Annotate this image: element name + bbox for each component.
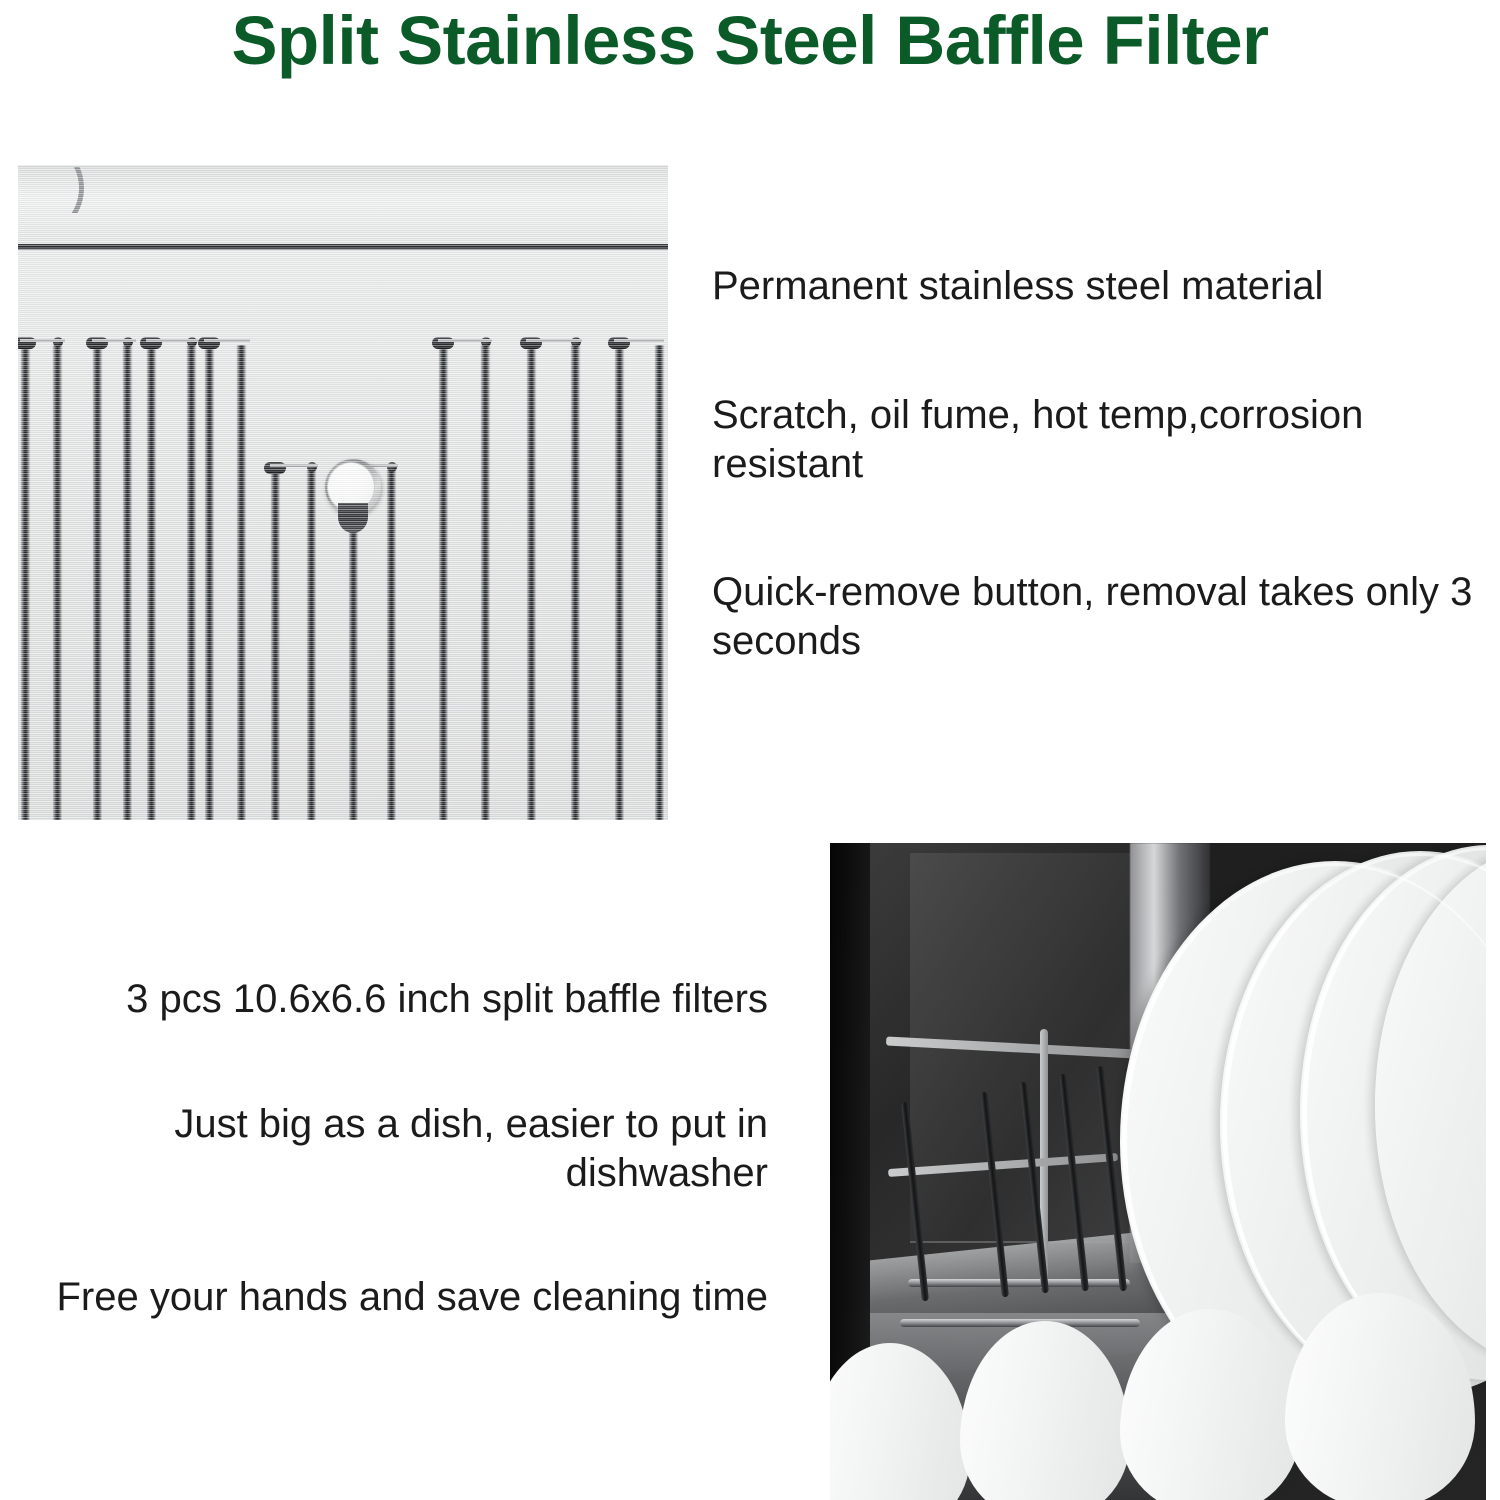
filter-closeup-image: [18, 165, 668, 820]
dishwasher-image: [830, 843, 1486, 1500]
benefit-list: 3 pcs 10.6x6.6 inch split baffle filters…: [20, 975, 768, 1322]
benefit-item-size: 3 pcs 10.6x6.6 inch split baffle filters: [20, 975, 768, 1024]
benefit-item-dishwasher: Just big as a dish, easier to put in dis…: [20, 1100, 768, 1198]
benefit-item-cleaning-time: Free your hands and save cleaning time: [20, 1273, 768, 1322]
rack-rail-back: [908, 1279, 1130, 1287]
quick-remove-button: [321, 459, 383, 531]
feature-item-material: Permanent stainless steel material: [712, 262, 1500, 311]
feature-list: Permanent stainless steel material Scrat…: [712, 262, 1500, 666]
infographic-page: Split Stainless Steel Baffle Filter: [0, 0, 1500, 1500]
quick-remove-tab: [338, 503, 368, 533]
feature-item-quick-remove: Quick-remove button, removal takes only …: [712, 568, 1500, 666]
page-title: Split Stainless Steel Baffle Filter: [0, 2, 1500, 79]
feature-item-resistance: Scratch, oil fume, hot temp,corrosion re…: [712, 391, 1500, 489]
